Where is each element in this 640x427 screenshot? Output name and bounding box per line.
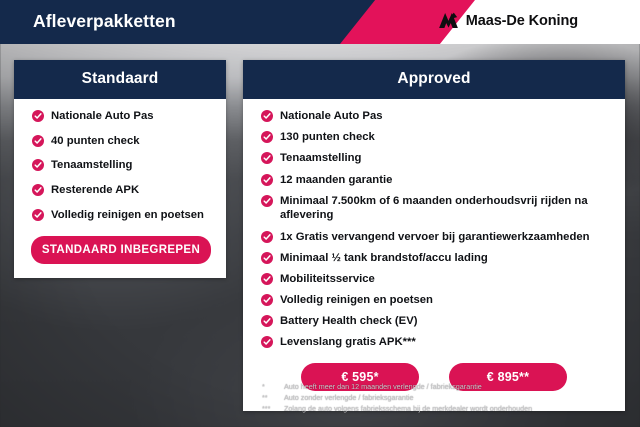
list-item: Volledig reinigen en poetsen — [243, 293, 625, 308]
brand-name: Maas-De Koning — [466, 13, 578, 29]
feature-label: Nationale Auto Pas — [280, 109, 625, 124]
feature-label: Resterende APK — [51, 183, 226, 198]
check-circle-icon — [261, 110, 273, 122]
feature-label: Volledig reinigen en poetsen — [280, 293, 625, 308]
feature-label: 12 maanden garantie — [280, 173, 625, 188]
check-circle-icon — [261, 174, 273, 186]
card-standaard-body: Nationale Auto Pas 40 punten check Tenaa… — [14, 99, 226, 278]
list-item: Minimaal 7.500km of 6 maanden onderhouds… — [243, 194, 625, 223]
check-circle-icon — [261, 195, 273, 207]
standaard-inbegrepen-button[interactable]: STANDAARD INBEGREPEN — [31, 236, 211, 264]
check-circle-icon — [261, 315, 273, 327]
footnote-single-asterisk: * Auto heeft meer dan 12 maanden verleng… — [262, 381, 632, 392]
feature-label: Battery Health check (EV) — [280, 314, 625, 329]
list-item: Volledig reinigen en poetsen — [14, 208, 226, 223]
feature-label: 130 punten check — [280, 130, 625, 145]
check-circle-icon — [32, 135, 44, 147]
check-circle-icon — [32, 110, 44, 122]
footnote-marker: * — [262, 381, 284, 392]
list-item: 40 punten check — [14, 134, 226, 149]
footnote-double-asterisk: ** Auto zonder verlengde / fabrieksgaran… — [262, 392, 632, 403]
footnotes: * Auto heeft meer dan 12 maanden verleng… — [262, 381, 632, 414]
check-circle-icon — [32, 159, 44, 171]
check-circle-icon — [261, 336, 273, 348]
page-header: Afleverpakketten Maas-De Koning — [0, 0, 640, 44]
list-item: Tenaamstelling — [243, 151, 625, 166]
feature-label: Minimaal ½ tank brandstof/accu lading — [280, 251, 625, 266]
feature-label: 1x Gratis vervangend vervoer bij garanti… — [280, 230, 625, 245]
list-item: 130 punten check — [243, 130, 625, 145]
list-item: 1x Gratis vervangend vervoer bij garanti… — [243, 230, 625, 245]
standaard-button-row: STANDAARD INBEGREPEN — [14, 222, 226, 264]
footnote-text: Auto zonder verlengde / fabrieksgarantie — [284, 392, 632, 403]
feature-label: Tenaamstelling — [51, 158, 226, 173]
card-standaard: Standaard Nationale Auto Pas 40 punten c… — [14, 60, 226, 278]
feature-label: Mobiliteitsservice — [280, 272, 625, 287]
brand-logo: Maas-De Koning — [438, 11, 578, 30]
check-circle-icon — [32, 209, 44, 221]
page-title: Afleverpakketten — [33, 11, 176, 32]
footnote-text: Zolang de auto volgens fabrieksschema bi… — [284, 403, 632, 414]
card-approved: Approved Nationale Auto Pas 130 punten c… — [243, 60, 625, 411]
standaard-feature-list: Nationale Auto Pas 40 punten check Tenaa… — [14, 109, 226, 222]
check-circle-icon — [261, 294, 273, 306]
check-circle-icon — [32, 184, 44, 196]
list-item: Battery Health check (EV) — [243, 314, 625, 329]
feature-label: Volledig reinigen en poetsen — [51, 208, 226, 223]
feature-label: Minimaal 7.500km of 6 maanden onderhouds… — [280, 194, 625, 223]
feature-label: Levenslang gratis APK*** — [280, 335, 625, 350]
feature-label: 40 punten check — [51, 134, 226, 149]
list-item: Resterende APK — [14, 183, 226, 198]
list-item: Nationale Auto Pas — [14, 109, 226, 124]
screenshot-root: Afleverpakketten Maas-De Koning Standaar… — [0, 0, 640, 427]
list-item: Mobiliteitsservice — [243, 272, 625, 287]
list-item: Tenaamstelling — [14, 158, 226, 173]
check-circle-icon — [261, 152, 273, 164]
check-circle-icon — [261, 231, 273, 243]
approved-feature-list: Nationale Auto Pas 130 punten check Tena… — [243, 109, 625, 350]
card-standaard-title: Standaard — [14, 60, 226, 99]
list-item: Nationale Auto Pas — [243, 109, 625, 124]
footnote-marker: ** — [262, 392, 284, 403]
footnote-triple-asterisk: *** Zolang de auto volgens fabrieksschem… — [262, 403, 632, 414]
check-circle-icon — [261, 273, 273, 285]
check-circle-icon — [261, 131, 273, 143]
footnote-text: Auto heeft meer dan 12 maanden verlengde… — [284, 381, 632, 392]
maas-de-koning-m-logo-icon — [438, 11, 459, 30]
list-item: Minimaal ½ tank brandstof/accu lading — [243, 251, 625, 266]
card-approved-title: Approved — [243, 60, 625, 99]
card-approved-body: Nationale Auto Pas 130 punten check Tena… — [243, 99, 625, 411]
feature-label: Nationale Auto Pas — [51, 109, 226, 124]
list-item: 12 maanden garantie — [243, 173, 625, 188]
list-item: Levenslang gratis APK*** — [243, 335, 625, 350]
feature-label: Tenaamstelling — [280, 151, 625, 166]
footnote-marker: *** — [262, 403, 284, 414]
check-circle-icon — [261, 252, 273, 264]
